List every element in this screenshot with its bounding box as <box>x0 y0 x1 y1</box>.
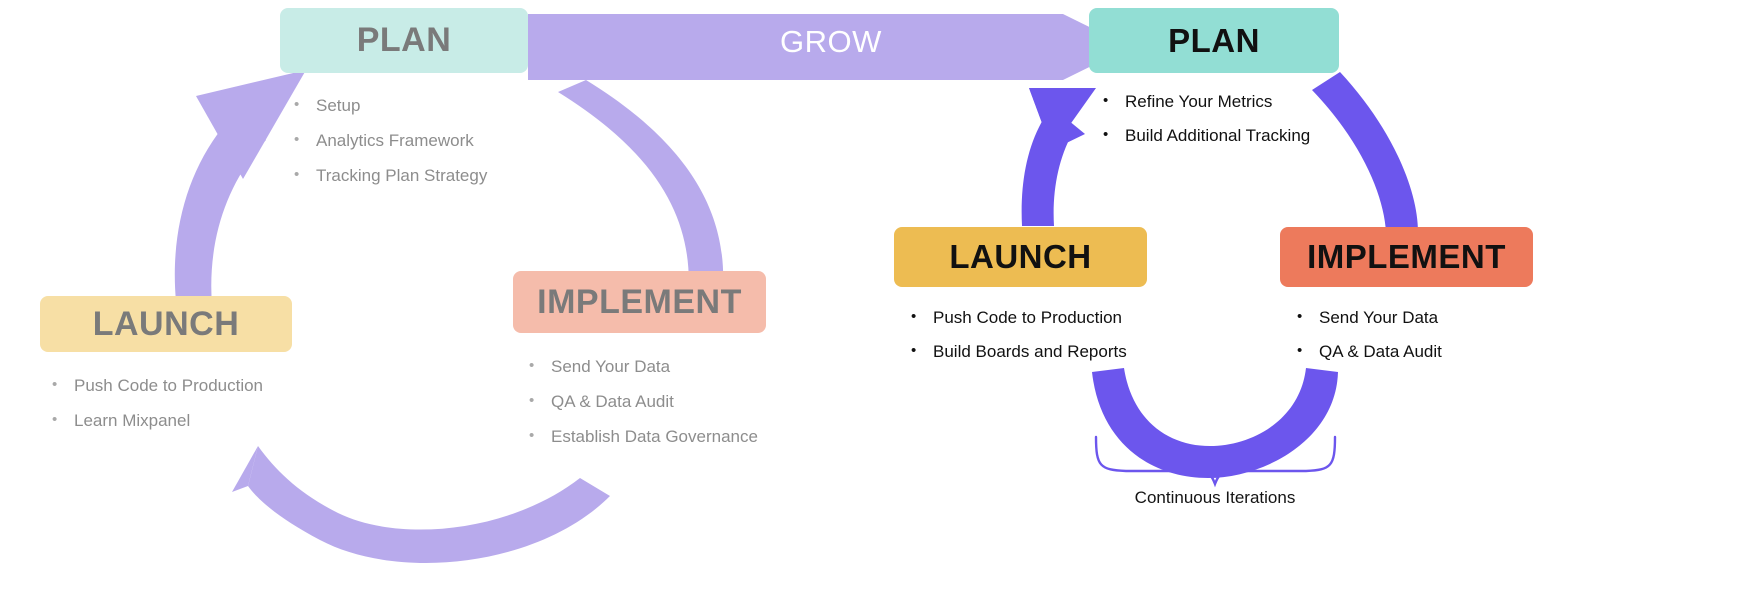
grow-banner-label: GROW <box>780 24 880 60</box>
list-item-label: Send Your Data <box>551 358 670 375</box>
list-item: • QA & Data Audit <box>529 393 766 410</box>
node-implement-right-header[interactable]: IMPLEMENT <box>1280 227 1533 287</box>
node-implement-left-bullets: • Send Your Data • QA & Data Audit • Est… <box>529 358 766 445</box>
node-implement-right[interactable]: IMPLEMENT • Send Your Data • QA & Data A… <box>1280 227 1533 377</box>
arrowhead-wedge-launch-to-plan-right <box>1029 88 1085 150</box>
list-item-label: Analytics Framework <box>316 132 474 149</box>
node-launch-left-title: LAUNCH <box>93 305 240 344</box>
diagram-canvas: GROW PLAN • Setup • Analytics Framework … <box>0 0 1740 589</box>
list-item: • Establish Data Governance <box>529 428 766 445</box>
list-item-label: Learn Mixpanel <box>74 412 190 429</box>
bullet-dot-icon: • <box>1297 309 1319 324</box>
list-item: • Send Your Data <box>529 358 766 375</box>
list-item: • Push Code to Production <box>52 377 292 394</box>
bullet-dot-icon: • <box>294 132 316 147</box>
list-item: • Tracking Plan Strategy <box>294 167 528 184</box>
bullet-dot-icon: • <box>294 167 316 182</box>
node-implement-left-title: IMPLEMENT <box>537 283 742 322</box>
list-item: • Send Your Data <box>1297 309 1533 326</box>
bullet-dot-icon: • <box>52 377 74 392</box>
node-plan-right[interactable]: PLAN • Refine Your Metrics • Build Addit… <box>1089 8 1339 161</box>
arrow-launch-to-plan-right <box>1022 118 1072 226</box>
node-launch-right[interactable]: LAUNCH • Push Code to Production • Build… <box>894 227 1147 377</box>
node-plan-left[interactable]: PLAN • Setup • Analytics Framework • Tra… <box>280 8 528 202</box>
arrowhead-launch-to-plan-right <box>1029 88 1096 150</box>
node-plan-left-title: PLAN <box>357 21 452 60</box>
list-item: • Analytics Framework <box>294 132 528 149</box>
bullet-dot-icon: • <box>529 393 551 408</box>
node-implement-right-title: IMPLEMENT <box>1307 238 1506 276</box>
list-item-label: Push Code to Production <box>74 377 263 394</box>
node-plan-right-bullets: • Refine Your Metrics • Build Additional… <box>1103 93 1339 144</box>
node-launch-left-header[interactable]: LAUNCH <box>40 296 292 352</box>
node-launch-right-bullets: • Push Code to Production • Build Boards… <box>911 309 1147 360</box>
bullet-dot-icon: • <box>52 412 74 427</box>
node-implement-left[interactable]: IMPLEMENT • Send Your Data • QA & Data A… <box>513 271 766 463</box>
bullet-dot-icon: • <box>911 309 933 324</box>
list-item-label: Setup <box>316 97 360 114</box>
list-item: • Refine Your Metrics <box>1103 93 1339 110</box>
bullet-dot-icon: • <box>529 358 551 373</box>
bullet-dot-icon: • <box>911 343 933 358</box>
arrow-implement-to-launch-left <box>248 446 610 563</box>
bullet-dot-icon: • <box>529 428 551 443</box>
list-item: • Setup <box>294 97 528 114</box>
list-item-label: Build Boards and Reports <box>933 343 1127 360</box>
list-item-label: QA & Data Audit <box>551 393 674 410</box>
node-launch-right-title: LAUNCH <box>949 238 1091 276</box>
list-item-label: Establish Data Governance <box>551 428 758 445</box>
continuous-iterations-brace <box>1096 437 1335 484</box>
list-item: • Push Code to Production <box>911 309 1147 326</box>
node-plan-right-header[interactable]: PLAN <box>1089 8 1339 73</box>
list-item-label: Build Additional Tracking <box>1125 127 1310 144</box>
node-implement-right-bullets: • Send Your Data • QA & Data Audit <box>1297 309 1533 360</box>
node-launch-left[interactable]: LAUNCH • Push Code to Production • Learn… <box>40 296 292 447</box>
list-item: • QA & Data Audit <box>1297 343 1533 360</box>
node-launch-left-bullets: • Push Code to Production • Learn Mixpan… <box>52 377 292 429</box>
node-implement-left-header[interactable]: IMPLEMENT <box>513 271 766 333</box>
list-item: • Build Additional Tracking <box>1103 127 1339 144</box>
node-launch-right-header[interactable]: LAUNCH <box>894 227 1147 287</box>
list-item-label: Tracking Plan Strategy <box>316 167 487 184</box>
list-item: • Build Boards and Reports <box>911 343 1147 360</box>
node-plan-left-bullets: • Setup • Analytics Framework • Tracking… <box>294 97 528 184</box>
bullet-dot-icon: • <box>294 97 316 112</box>
bullet-dot-icon: • <box>1103 93 1125 108</box>
node-plan-right-title: PLAN <box>1168 22 1260 60</box>
arrow-plan-to-implement-left <box>558 80 723 300</box>
list-item-label: Refine Your Metrics <box>1125 93 1272 110</box>
list-item-label: QA & Data Audit <box>1319 343 1442 360</box>
arrow-implement-to-launch-right <box>1092 368 1338 478</box>
bullet-dot-icon: • <box>1297 343 1319 358</box>
continuous-iterations-label: Continuous Iterations <box>1075 488 1355 508</box>
list-item: • Learn Mixpanel <box>52 412 292 429</box>
arrowhead-implement-to-launch-left <box>232 446 258 492</box>
list-item-label: Send Your Data <box>1319 309 1438 326</box>
bullet-dot-icon: • <box>1103 127 1125 142</box>
list-item-label: Push Code to Production <box>933 309 1122 326</box>
node-plan-left-header[interactable]: PLAN <box>280 8 528 73</box>
